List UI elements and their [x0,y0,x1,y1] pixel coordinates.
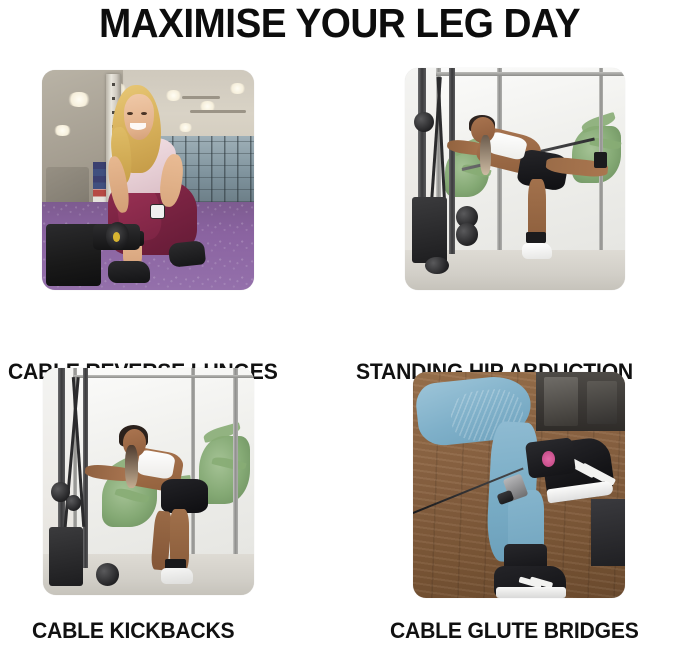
exercise-card-standing-hip-abduction[interactable]: STANDING HIP ABDUCTION [340,52,679,342]
exercise-card-cable-glute-bridges[interactable]: CABLE GLUTE BRIDGES [340,350,679,646]
athlete-eye-right [141,112,147,115]
background-machine [587,381,617,424]
machine-foot [96,563,119,586]
exercise-caption-cable-kickbacks: CABLE KICKBACKS [32,619,234,643]
window-mullion [191,368,196,559]
window-mullion [233,368,238,559]
athlete-ponytail [125,445,138,488]
cable-weight [66,495,81,511]
smart-watch [150,204,165,219]
athlete-ponytail [480,135,491,175]
cable-machine-base [49,527,83,586]
cable-machine-base [412,197,447,264]
ceiling-light [178,123,193,132]
athlete-smile [130,123,146,130]
ankle-cuff [594,152,607,168]
background-machine [544,377,578,427]
photo-scene-studio-kickbacks [43,368,254,595]
cable-weight [456,223,478,245]
exercise-card-cable-reverse-lunges[interactable]: CABLE REVERSE LUNGES [0,52,340,342]
poster: MAXIMISE YOUR LEG DAY [0,0,679,646]
exercise-photo-cable-kickbacks [43,368,254,595]
ankle-strap [526,232,546,243]
exercise-photo-cable-reverse-lunges [42,70,254,290]
athlete-shoe [522,243,553,259]
pulley-pin [113,232,120,242]
page-title: MAXIMISE YOUR LEG DAY [19,0,661,46]
ceiling-light [53,125,72,136]
cable-weight [414,112,434,132]
wall-flag-canton [93,162,106,188]
athlete-eye-left [127,112,133,115]
ceiling-light [165,90,182,101]
exercise-photo-standing-hip-abduction [405,68,625,290]
ceiling-light [229,83,246,94]
ankle-cuff-logo-icon [542,451,555,467]
athlete-shoe-front [108,261,150,283]
athlete-shoe [161,568,193,584]
photo-scene-studio-abduction [405,68,625,290]
exercise-card-cable-kickbacks[interactable]: CABLE KICKBACKS [0,350,340,646]
photo-scene-gym-lunges [42,70,254,290]
exercise-photo-cable-glute-bridges [413,372,625,598]
cable-tower-post [449,68,455,254]
window-mullion [436,72,625,75]
exercise-mat [591,499,625,567]
ceiling-fan [190,110,245,113]
photo-scene-legs-closeup [413,372,625,598]
ceiling-fan [182,96,220,99]
exercise-caption-cable-glute-bridges: CABLE GLUTE BRIDGES [390,619,639,643]
shoe-sole [496,587,566,598]
athlete-shoe-back [168,240,206,268]
window-mullion [73,375,254,378]
